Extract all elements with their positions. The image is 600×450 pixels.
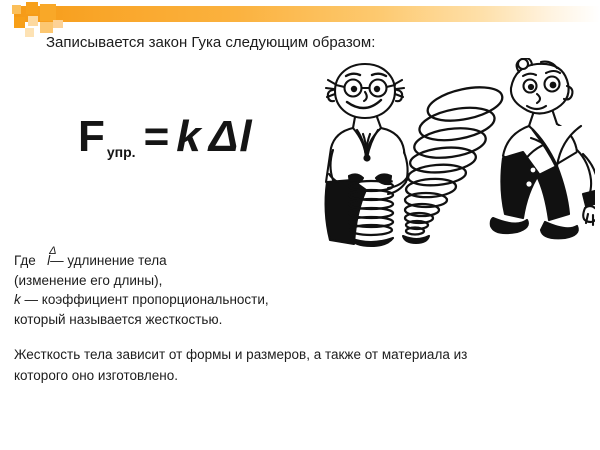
formula-force-symbol: F	[78, 112, 106, 161]
decor-square	[40, 4, 56, 21]
formula-length-symbol: l	[239, 112, 252, 161]
orange-gradient-bar	[14, 6, 600, 22]
formula-stiffness-symbol: k	[176, 112, 201, 161]
man-with-stretched-spring-cartoon	[403, 58, 595, 243]
decor-square	[28, 16, 38, 26]
definitions-line1-rest: — удлинение тела	[50, 253, 167, 268]
decor-square	[26, 2, 38, 14]
definitions-line2: (изменение его длины),	[14, 273, 162, 288]
formula-equals: =	[144, 112, 171, 161]
decor-square	[12, 5, 21, 14]
decor-square	[40, 22, 53, 33]
definitions-block: Где Δl— удлинение тела (изменение его дл…	[14, 251, 269, 329]
definitions-line4: который называется жесткостью.	[14, 312, 222, 327]
formula-force-subscript: упр.	[107, 144, 136, 160]
definitions-line3-rest: — коэффициент пропорциональности,	[25, 292, 269, 307]
formula-delta-symbol: Δ	[209, 112, 240, 161]
man-compressing-spring-cartoon	[326, 64, 408, 246]
slide-title: Записывается закон Гука следующим образо…	[46, 33, 375, 52]
decor-square	[25, 28, 34, 37]
hooke-law-formula: Fупр.=kΔl	[78, 112, 253, 177]
definitions-line3-symbol: k	[14, 292, 21, 307]
decor-square	[14, 17, 25, 28]
hooke-law-illustration	[305, 58, 595, 250]
decor-square	[53, 20, 63, 28]
definitions-where-label: Где	[14, 253, 36, 268]
definitions-delta-length: Δl	[47, 251, 50, 271]
delta-icon: Δ	[49, 242, 56, 262]
conclusion-text: Жесткость тела зависит от формы и размер…	[14, 344, 574, 386]
